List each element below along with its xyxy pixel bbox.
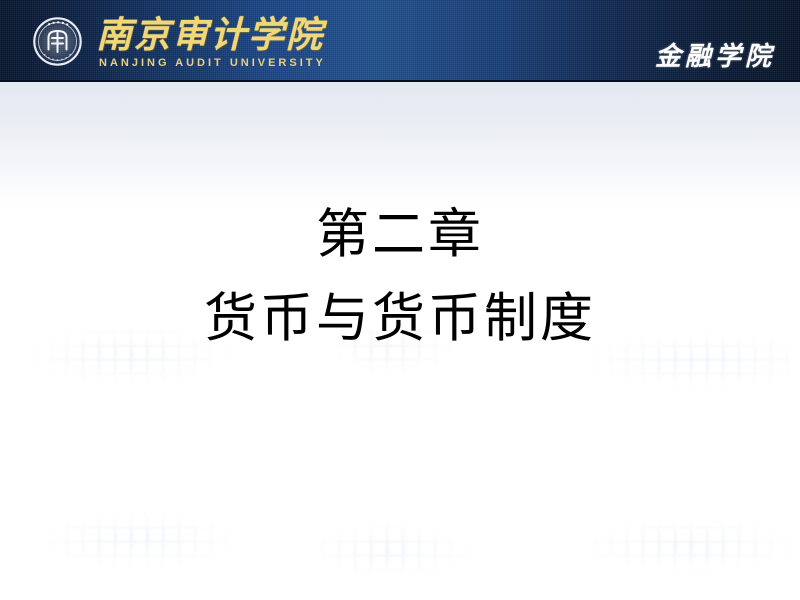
chapter-title: 货币与货币制度 <box>0 274 800 364</box>
university-seal-emblem <box>32 16 83 67</box>
background-gradient-wash <box>0 82 800 212</box>
chapter-label: 第二章 <box>0 196 800 274</box>
slide-header-banner: 南京审计学院 NANJING AUDIT UNIVERSITY 金融学院 <box>0 0 800 82</box>
university-name-chinese: 南京审计学院 <box>96 14 324 56</box>
school-name-label: 金融学院 <box>655 36 775 73</box>
slide-title-block: 第二章 货币与货币制度 <box>0 196 800 364</box>
university-name-english: NANJING AUDIT UNIVERSITY <box>99 57 326 69</box>
header-bottom-edge <box>0 80 800 82</box>
presentation-slide: 南京审计学院 NANJING AUDIT UNIVERSITY 金融学院 第二章… <box>0 0 800 600</box>
